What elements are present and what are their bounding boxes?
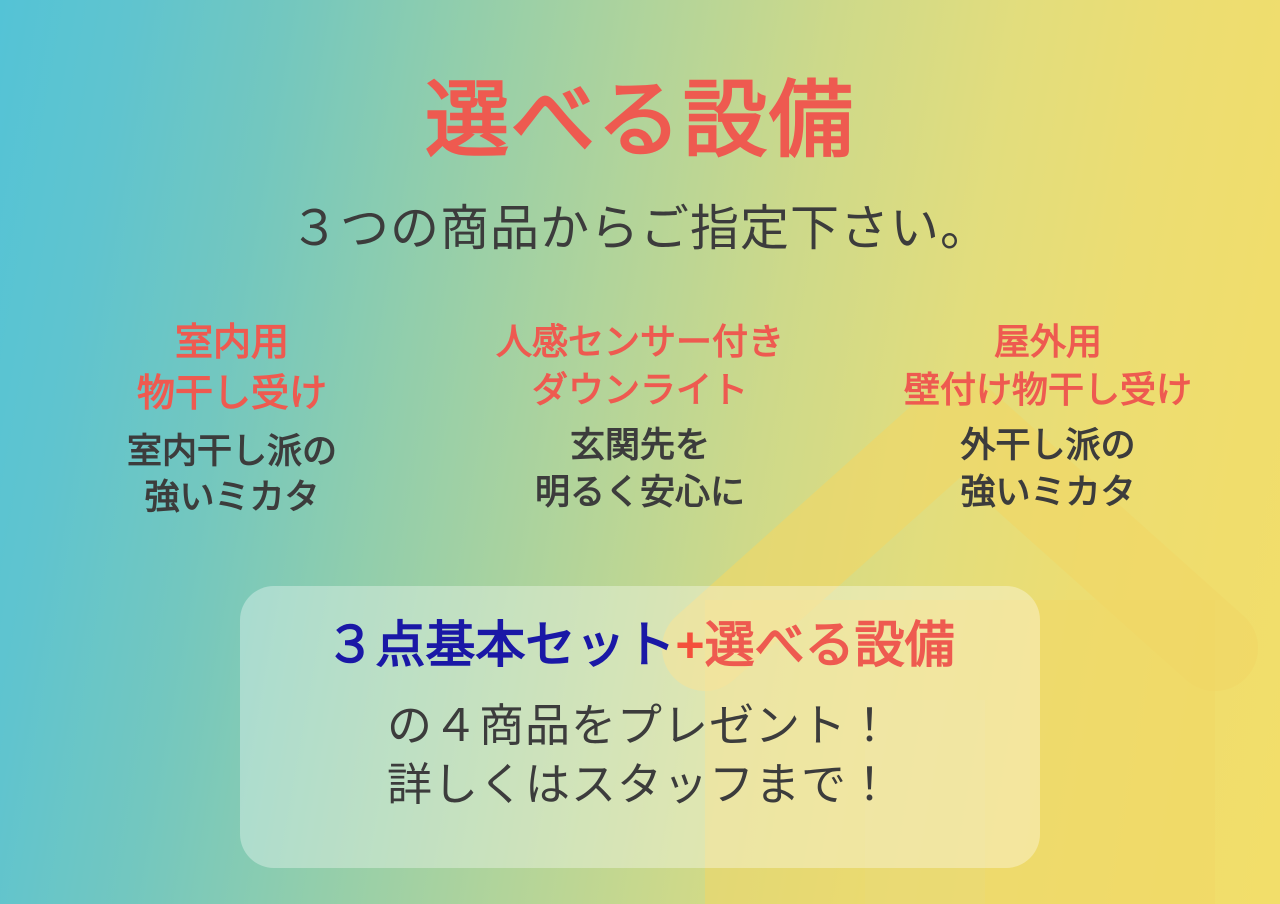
- promo-poster: 選べる設備 ３つの商品からご指定下さい。 室内用 物干し受け 室内干し派の 強い…: [0, 0, 1280, 904]
- option-card-outdoor[interactable]: 屋外用 壁付け物干し受け 外干し派の 強いミカタ: [844, 318, 1252, 517]
- options-row: 室内用 物干し受け 室内干し派の 強いミカタ 人感センサー付き ダウンライト 玄…: [28, 318, 1252, 522]
- option-title-outdoor: 屋外用 壁付け物干し受け: [848, 318, 1248, 414]
- offer-line-2: 詳しくはスタッフまで！: [0, 762, 1280, 807]
- offer-headline-selectable: 選べる設備: [705, 617, 955, 673]
- offer-line-1: の４商品をプレゼント！: [0, 703, 1280, 748]
- option-card-downlight[interactable]: 人感センサー付き ダウンライト 玄関先を 明るく安心に: [436, 318, 844, 517]
- plus-icon: +: [675, 617, 704, 673]
- option-desc-downlight: 玄関先を 明るく安心に: [440, 423, 840, 516]
- option-desc-indoor: 室内干し派の 強いミカタ: [32, 429, 432, 522]
- option-title-downlight: 人感センサー付き ダウンライト: [440, 318, 840, 414]
- option-card-indoor[interactable]: 室内用 物干し受け 室内干し派の 強いミカタ: [28, 318, 436, 522]
- page-title: 選べる設備: [0, 78, 1280, 162]
- option-desc-outdoor: 外干し派の 強いミカタ: [848, 423, 1248, 516]
- option-title-indoor: 室内用 物干し受け: [32, 318, 432, 420]
- page-subtitle: ３つの商品からご指定下さい。: [0, 203, 1280, 257]
- offer-headline-base-set: ３点基本セット: [325, 617, 675, 673]
- offer-headline: ３点基本セット+選べる設備: [0, 620, 1280, 670]
